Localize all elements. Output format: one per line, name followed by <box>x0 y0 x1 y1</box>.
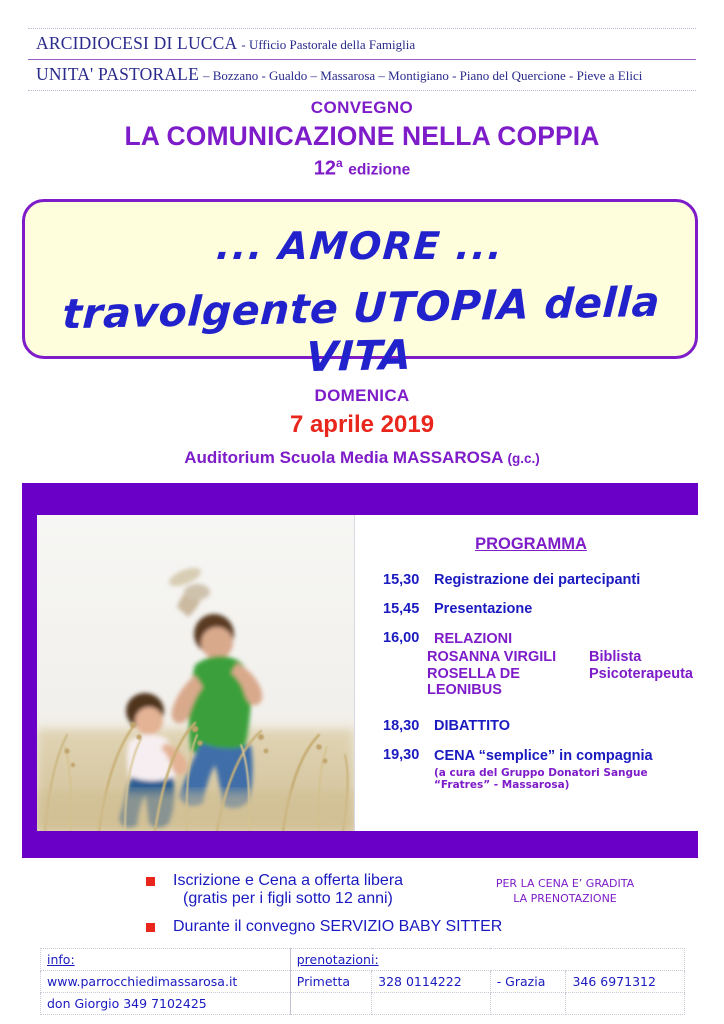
note-babysitter: Durante il convegno SERVIZIO BABY SITTER <box>146 918 502 936</box>
program-item-time: 19,30 <box>383 747 427 763</box>
contact1-name-cell: Primetta <box>290 971 371 993</box>
unita-pastorale-title: UNITA' PASTORALE <box>36 64 199 84</box>
event-venue-line: Auditorium Scuola Media MASSAROSA (g.c.) <box>0 448 724 468</box>
empty-cell <box>566 993 685 1015</box>
website-cell[interactable]: www.parrocchiedimassarosa.it <box>41 971 291 993</box>
contacts-table: info: prenotazioni: www.parrocchiedimass… <box>40 948 685 1015</box>
program-banner: PROGRAMMA 15,30 Registrazione dei partec… <box>22 483 698 858</box>
empty-cell <box>490 993 566 1015</box>
edition-word: edizione <box>348 162 410 179</box>
speaker-name: ROSANNA VIRGILI <box>427 649 589 665</box>
convegno-label: CONVEGNO <box>0 98 724 118</box>
arcidiocesi-subtitle: - Ufficio Pastorale della Famiglia <box>241 37 415 52</box>
event-weekday: DOMENICA <box>0 386 724 406</box>
arcidiocesi-title: ARCIDIOCESI DI LUCCA <box>36 33 237 53</box>
event-date-block: DOMENICA 7 aprile 2019 Auditorium Scuola… <box>0 386 724 468</box>
program-item-time: 18,30 <box>383 718 427 734</box>
hero-line-amore: ... AMORE ... <box>23 224 696 268</box>
contact2-phone-cell[interactable]: 346 6971312 <box>566 971 685 993</box>
table-row: info: prenotazioni: <box>41 949 685 971</box>
program-item: 15,30 Registrazione dei partecipanti <box>383 572 693 588</box>
program-item-desc: Registrazione dei partecipanti <box>427 572 640 588</box>
header-row-unita-pastorale: UNITA' PASTORALE – Bozzano - Gualdo – Ma… <box>28 60 696 90</box>
speaker-row: ROSANNA VIRGILI Biblista <box>427 649 693 665</box>
program-item: 15,45 Presentazione <box>383 601 693 617</box>
program-item-time: 16,00 <box>383 630 427 646</box>
program-list: PROGRAMMA 15,30 Registrazione dei partec… <box>355 515 701 831</box>
edition-number: 12 <box>314 158 336 180</box>
diocese-header: ARCIDIOCESI DI LUCCA - Ufficio Pastorale… <box>28 28 696 91</box>
info-label: info: <box>47 952 75 967</box>
program-item-desc: CENA “semplice” in compagnia <box>427 748 653 764</box>
program-item-desc: DIBATTITO <box>427 718 510 734</box>
program-item: 19,30 CENA “semplice” in compagnia (a cu… <box>383 747 693 791</box>
speaker-name: ROSELLA DE LEONIBUS <box>427 666 589 698</box>
speaker-role: Psicoterapeuta <box>589 666 693 698</box>
notes-section: Iscrizione e Cena a offerta libera (grat… <box>0 872 724 932</box>
unita-pastorale-parishes: – Bozzano - Gualdo – Massarosa – Montigi… <box>203 68 642 83</box>
note-babysitter-text: Durante il convegno SERVIZIO BABY SITTER <box>173 918 502 936</box>
hero-slogan-box: ... AMORE ... travolgente UTOPIA della V… <box>22 199 698 359</box>
square-bullet-icon <box>146 923 155 932</box>
contact2-name-cell: - Grazia <box>490 971 566 993</box>
program-item-desc: Presentazione <box>427 601 532 617</box>
table-row: don Giorgio 349 7102425 <box>41 993 685 1015</box>
edition-ordinal-suffix: a <box>336 156 343 170</box>
speaker-row: ROSELLA DE LEONIBUS Psicoterapeuta <box>427 666 693 698</box>
speaker-role: Biblista <box>589 649 641 665</box>
note-fee-text: Iscrizione e Cena a offerta libera (grat… <box>173 872 403 908</box>
reservation-note-line2: LA PRENOTAZIONE <box>455 892 675 907</box>
contact1-phone-cell[interactable]: 328 0114222 <box>372 971 491 993</box>
conference-title: LA COMUNICAZIONE NELLA COPPIA <box>0 121 724 152</box>
prenotazioni-label: prenotazioni: <box>297 952 379 967</box>
empty-cell <box>290 993 371 1015</box>
header-row-arcidiocesi: ARCIDIOCESI DI LUCCA - Ufficio Pastorale… <box>28 29 696 60</box>
note-fee: Iscrizione e Cena a offerta libera (grat… <box>146 872 403 908</box>
info-label-cell: info: <box>41 949 291 971</box>
don-giorgio-cell[interactable]: don Giorgio 349 7102425 <box>41 993 291 1015</box>
couple-running-photo <box>37 515 355 831</box>
program-item: 16,00 RELAZIONI ROSANNA VIRGILI Biblista… <box>383 630 693 698</box>
dinner-organizer-note: (a cura del Gruppo Donatori Sangue “Frat… <box>427 767 693 791</box>
photo-illustration <box>37 515 354 831</box>
conference-title-block: CONVEGNO LA COMUNICAZIONE NELLA COPPIA 1… <box>0 98 724 181</box>
reservation-note-line1: PER LA CENA E’ GRADITA <box>455 877 675 892</box>
prenotazioni-label-cell: prenotazioni: <box>290 949 684 971</box>
table-row: www.parrocchiedimassarosa.it Primetta 32… <box>41 971 685 993</box>
event-venue-note: (g.c.) <box>508 451 540 466</box>
square-bullet-icon <box>146 877 155 886</box>
empty-cell <box>372 993 491 1015</box>
event-venue: Auditorium Scuola Media MASSAROSA <box>184 448 503 467</box>
event-date: 7 aprile 2019 <box>0 411 724 439</box>
edition-line: 12a edizione <box>0 156 724 181</box>
hero-line-utopia: travolgente UTOPIA della VITA <box>22 277 698 387</box>
program-item-desc: RELAZIONI <box>427 631 512 647</box>
note-fee-line1: Iscrizione e Cena a offerta libera <box>173 872 403 889</box>
program-item: 18,30 DIBATTITO <box>383 718 693 734</box>
reservation-note: PER LA CENA E’ GRADITA LA PRENOTAZIONE <box>455 877 675 907</box>
program-item-time: 15,45 <box>383 601 427 617</box>
banner-inner-panel: PROGRAMMA 15,30 Registrazione dei partec… <box>37 515 683 831</box>
program-heading: PROGRAMMA <box>369 535 693 554</box>
note-fee-line2: (gratis per i figli sotto 12 anni) <box>173 890 403 908</box>
program-item-time: 15,30 <box>383 572 427 588</box>
